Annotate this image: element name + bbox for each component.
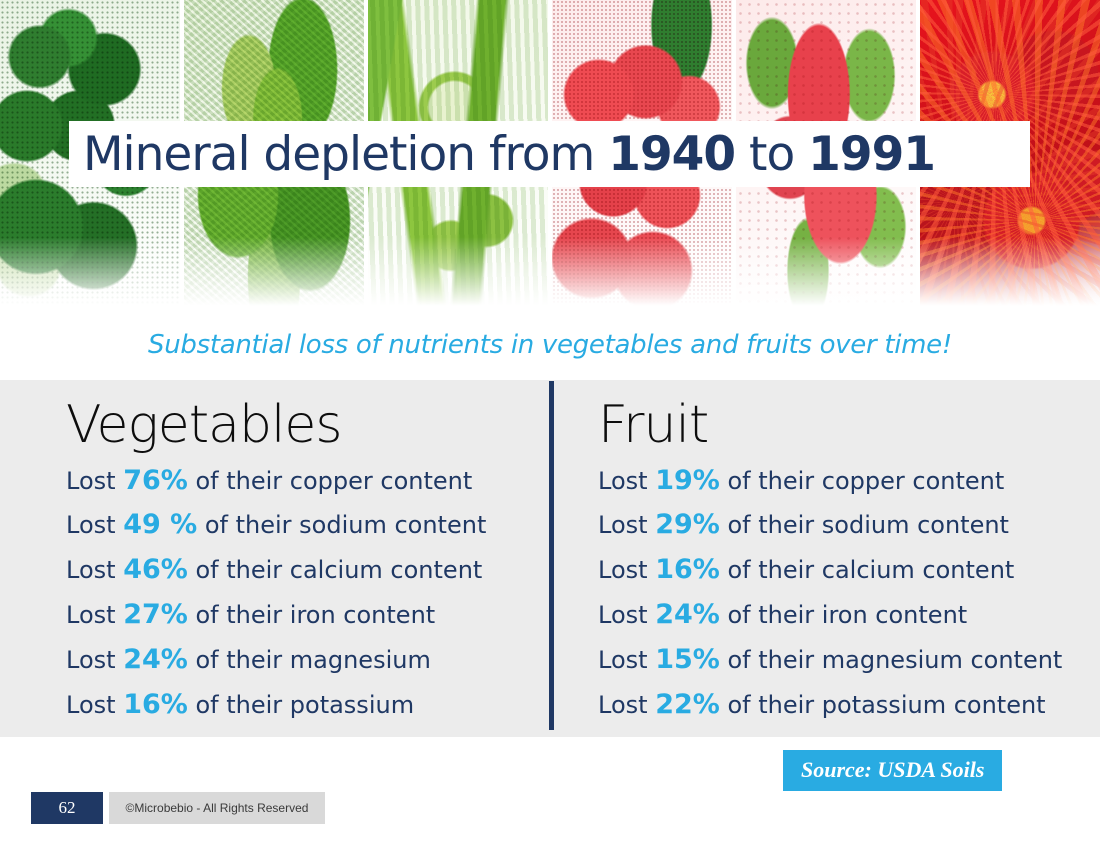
footer: 62 ©Microbebio - All Rights Reserved: [31, 792, 325, 824]
bullet-rest: of their copper content: [720, 467, 1004, 495]
bullet-percent: 16%: [655, 554, 720, 585]
bullet-rest: of their potassium: [188, 691, 414, 719]
bullet-rest: of their iron content: [188, 601, 435, 629]
column-vegetables: Vegetables Lost 76% of their copper cont…: [66, 398, 526, 727]
bullet-percent: 49 %: [123, 509, 197, 540]
bullet-percent: 27%: [123, 599, 188, 630]
bullet-percent: 15%: [655, 644, 720, 675]
list-item: Lost 19% of their copper content: [598, 459, 1068, 504]
bullet-lead: Lost: [598, 511, 655, 539]
title-prefix: Mineral depletion from: [83, 127, 608, 182]
bullet-rest: of their iron content: [720, 601, 967, 629]
bullet-percent: 16%: [123, 689, 188, 720]
bullet-percent: 24%: [123, 644, 188, 675]
list-item: Lost 24% of their magnesium: [66, 638, 526, 683]
bullet-rest: of their copper content: [188, 467, 472, 495]
bullet-rest: of their calcium content: [188, 556, 482, 584]
title-year-to: 1991: [808, 127, 935, 182]
bullet-rest: of their potassium content: [720, 691, 1046, 719]
bullet-lead: Lost: [66, 511, 123, 539]
title-year-join: to: [735, 127, 808, 182]
bullet-rest: of their magnesium content: [720, 646, 1063, 674]
bullet-lead: Lost: [598, 467, 655, 495]
page-number: 62: [31, 792, 103, 824]
bullet-lead: Lost: [66, 601, 123, 629]
list-item: Lost 76% of their copper content: [66, 459, 526, 504]
bullet-lead: Lost: [66, 556, 123, 584]
list-item: Lost 29% of their sodium content: [598, 503, 1068, 548]
bullet-rest: of their calcium content: [720, 556, 1014, 584]
source-badge: Source: USDA Soils: [783, 750, 1002, 791]
bullet-lead: Lost: [66, 691, 123, 719]
title-year-from: 1940: [608, 127, 735, 182]
bullet-percent: 76%: [123, 465, 188, 496]
slide-subtitle: Substantial loss of nutrients in vegetab…: [0, 330, 1100, 360]
bullet-lead: Lost: [66, 467, 123, 495]
list-item: Lost 27% of their iron content: [66, 593, 526, 638]
bullet-percent: 24%: [655, 599, 720, 630]
bullet-lead: Lost: [598, 691, 655, 719]
list-item: Lost 24% of their iron content: [598, 593, 1068, 638]
list-item: Lost 49 % of their sodium content: [66, 503, 526, 548]
list-item: Lost 15% of their magnesium content: [598, 638, 1068, 683]
title-band: Mineral depletion from 1940 to 1991: [69, 121, 1030, 187]
column-heading-vegetables: Vegetables: [66, 398, 526, 453]
bullet-lead: Lost: [598, 646, 655, 674]
column-divider: [549, 381, 554, 730]
bullet-percent: 29%: [655, 509, 720, 540]
copyright-notice: ©Microbebio - All Rights Reserved: [109, 792, 325, 824]
bullet-lead: Lost: [598, 556, 655, 584]
bullet-lead: Lost: [66, 646, 123, 674]
bullet-percent: 22%: [655, 689, 720, 720]
list-item: Lost 46% of their calcium content: [66, 548, 526, 593]
list-item: Lost 22% of their potassium content: [598, 683, 1068, 728]
bullet-percent: 19%: [655, 465, 720, 496]
list-item: Lost 16% of their potassium: [66, 683, 526, 728]
bullet-rest: of their sodium content: [720, 511, 1009, 539]
bullet-rest: of their sodium content: [197, 511, 486, 539]
bullet-rest: of their magnesium: [188, 646, 431, 674]
column-fruit: Fruit Lost 19% of their copper content L…: [598, 398, 1068, 727]
bullet-percent: 46%: [123, 554, 188, 585]
bullet-lead: Lost: [598, 601, 655, 629]
list-item: Lost 16% of their calcium content: [598, 548, 1068, 593]
column-heading-fruit: Fruit: [598, 398, 1068, 453]
slide-title: Mineral depletion from 1940 to 1991: [83, 131, 935, 178]
